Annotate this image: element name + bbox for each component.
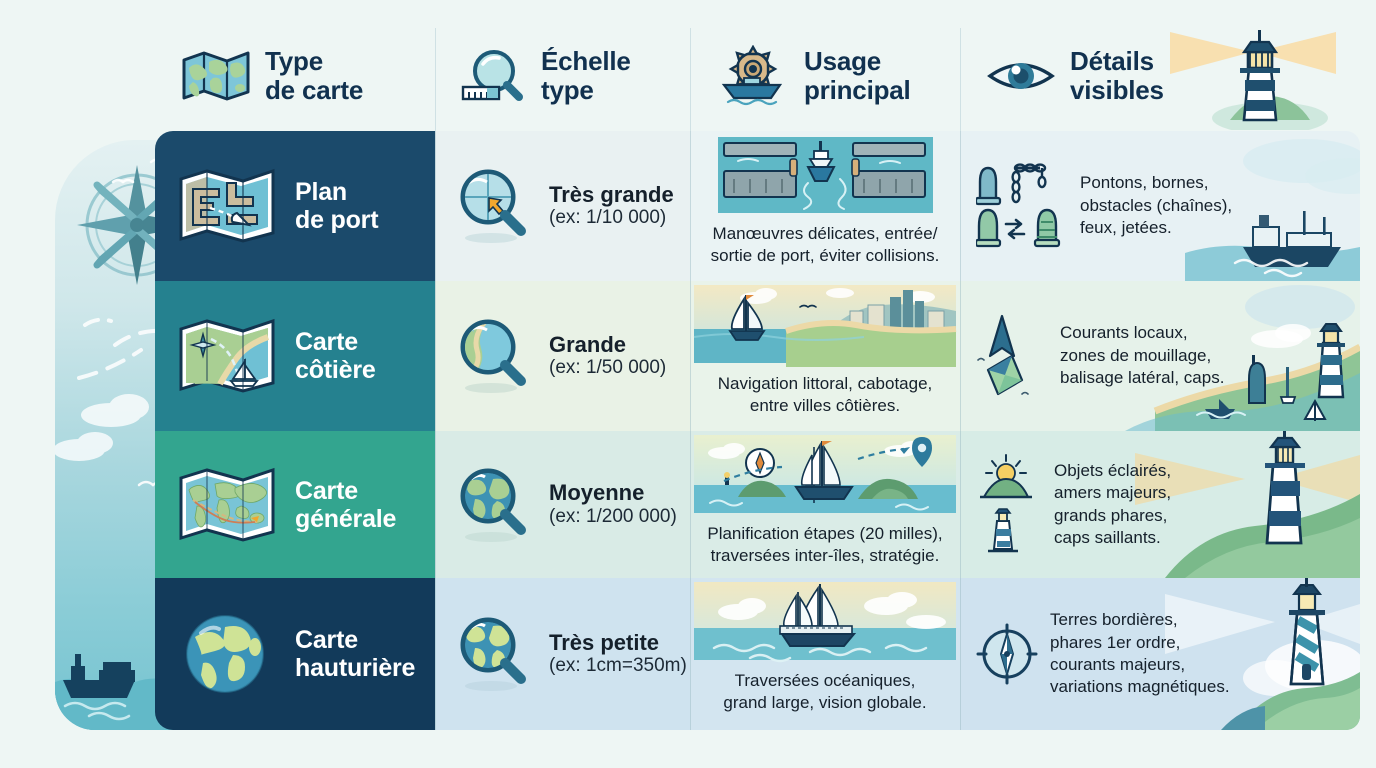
globe-icon: [177, 611, 277, 697]
usage-text: Planification étapes (20 milles), traver…: [699, 517, 950, 567]
beacon-icon: [976, 210, 1000, 246]
harbour-plan-map-icon: [177, 163, 277, 249]
tallship-open-sea-art: [690, 578, 960, 664]
type-label: Carte générale: [295, 477, 396, 533]
details-text: Terres bordières, phares 1er ordre, cour…: [1050, 609, 1230, 699]
magnifier-grid-icon: [453, 166, 535, 246]
lighthouse-icon: [1265, 431, 1305, 543]
cell-scale: Grande (ex: 1/50 000): [435, 281, 690, 431]
cloud-icon: [55, 394, 149, 461]
details-text: Courants locaux, zones de mouillage, bal…: [1060, 322, 1224, 389]
header-col-usage: Usage principal: [690, 20, 960, 131]
small-lighthouse-icon: [988, 509, 1018, 551]
scale-main: Très grande: [549, 182, 674, 207]
eye-icon: [986, 54, 1056, 98]
cell-usage: Traversées océaniques, grand large, visi…: [690, 578, 960, 730]
route-dots: [79, 320, 165, 378]
type-label: Plan de port: [295, 178, 378, 234]
lighthouse-icon: [1289, 578, 1325, 684]
details-text: Pontons, bornes, obstacles (chaînes), fe…: [1080, 172, 1232, 239]
details-icons-row3: [976, 453, 1042, 557]
lit-object-icon: [980, 455, 1032, 497]
scale-text-block: Très petite (ex: 1cm=350m): [549, 630, 687, 678]
scale-text-block: Grande (ex: 1/50 000): [549, 332, 666, 380]
scale-example: (ex: 1cm=350m): [549, 655, 687, 678]
table-body: Plan de port: [155, 131, 1360, 730]
harbour-docks-ship-art: [690, 131, 960, 217]
scale-example: (ex: 1/200 000): [549, 506, 677, 529]
cell-details: Courants locaux, zones de mouillage, bal…: [960, 281, 1360, 431]
table-row[interactable]: Plan de port: [155, 131, 1360, 281]
header-col-details: Détails visibles: [960, 20, 1360, 131]
swap-arrows-icon: [1006, 220, 1024, 238]
header-col-scale: Échelle type: [435, 20, 690, 131]
comparison-table: Type de carte Échelle type: [155, 20, 1360, 730]
chain-icon: [1013, 165, 1046, 202]
table-row[interactable]: Carte hauturière: [155, 578, 1360, 730]
cell-type: Plan de port: [155, 131, 435, 281]
cone-buoy-icon: [1035, 210, 1059, 246]
buoy-icon: [1249, 355, 1265, 403]
ship-helm-icon: [716, 45, 790, 107]
magnifier-globe-icon: [453, 614, 535, 694]
header-label-usage: Usage principal: [804, 47, 911, 103]
world-map-icon: [177, 462, 277, 548]
usage-text: Manœuvres délicates, entrée/ sortie de p…: [703, 217, 948, 267]
cargo-ship-icon: [63, 654, 135, 698]
usage-text: Navigation littoral, cabotage, entre vil…: [710, 367, 941, 417]
table-header-row: Type de carte Échelle type: [155, 20, 1360, 131]
magnifier-ruler-icon: [461, 47, 527, 105]
header-label-details: Détails visibles: [1070, 47, 1164, 103]
scale-text-block: Très grande (ex: 1/10 000): [549, 182, 674, 230]
compass-rose-icon: [976, 623, 1038, 685]
folded-map-icon: [181, 48, 251, 104]
cell-usage: Planification étapes (20 milles), traver…: [690, 431, 960, 578]
details-icons-row1: [976, 160, 1068, 252]
sailboat-coast-city-art: [690, 281, 960, 367]
schooner-islands-route-art: [690, 431, 960, 517]
cell-usage: Navigation littoral, cabotage, entre vil…: [690, 281, 960, 431]
scale-example: (ex: 1/50 000): [549, 357, 666, 380]
details-text: Objets éclairés, amers majeurs, grands p…: [1054, 460, 1171, 550]
magnifier-globe-icon: [453, 465, 535, 545]
current-arrow-icon: [990, 316, 1014, 356]
cell-scale: Très grande (ex: 1/10 000): [435, 131, 690, 281]
scale-main: Grande: [549, 332, 666, 357]
cell-type: Carte hauturière: [155, 578, 435, 730]
header-label-type: Type de carte: [265, 47, 363, 103]
magnifier-coast-icon: [453, 316, 535, 396]
cell-details: Terres bordières, phares 1er ordre, cour…: [960, 578, 1360, 730]
header-label-scale: Échelle type: [541, 47, 631, 103]
infographic-canvas: Type de carte Échelle type: [0, 0, 1376, 768]
type-label: Carte côtière: [295, 328, 376, 384]
cell-usage: Manœuvres délicates, entrée/ sortie de p…: [690, 131, 960, 281]
scale-main: Très petite: [549, 630, 687, 655]
scale-main: Moyenne: [549, 480, 677, 505]
cell-details: Objets éclairés, amers majeurs, grands p…: [960, 431, 1360, 578]
buoy-icon: [976, 168, 1000, 204]
cell-scale: Très petite (ex: 1cm=350m): [435, 578, 690, 730]
compass-needle-icon: [988, 356, 1022, 394]
lighthouse-icon: [1317, 324, 1345, 397]
table-row[interactable]: Carte côtière: [155, 281, 1360, 431]
cell-scale: Moyenne (ex: 1/200 000): [435, 431, 690, 578]
table-row[interactable]: Carte générale: [155, 431, 1360, 578]
cell-details: Pontons, bornes, obstacles (chaînes), fe…: [960, 131, 1360, 281]
details-icons-row2: [976, 310, 1048, 402]
cargo-ship-icon: [1243, 211, 1341, 267]
lighthouse-icon: [1160, 12, 1340, 130]
type-label: Carte hauturière: [295, 626, 415, 682]
cell-type: Carte générale: [155, 431, 435, 578]
header-col-type: Type de carte: [155, 20, 435, 131]
scale-text-block: Moyenne (ex: 1/200 000): [549, 480, 677, 528]
cell-type: Carte côtière: [155, 281, 435, 431]
scale-example: (ex: 1/10 000): [549, 207, 674, 230]
coastal-map-icon: [177, 313, 277, 399]
usage-text: Traversées océaniques, grand large, visi…: [715, 664, 934, 714]
